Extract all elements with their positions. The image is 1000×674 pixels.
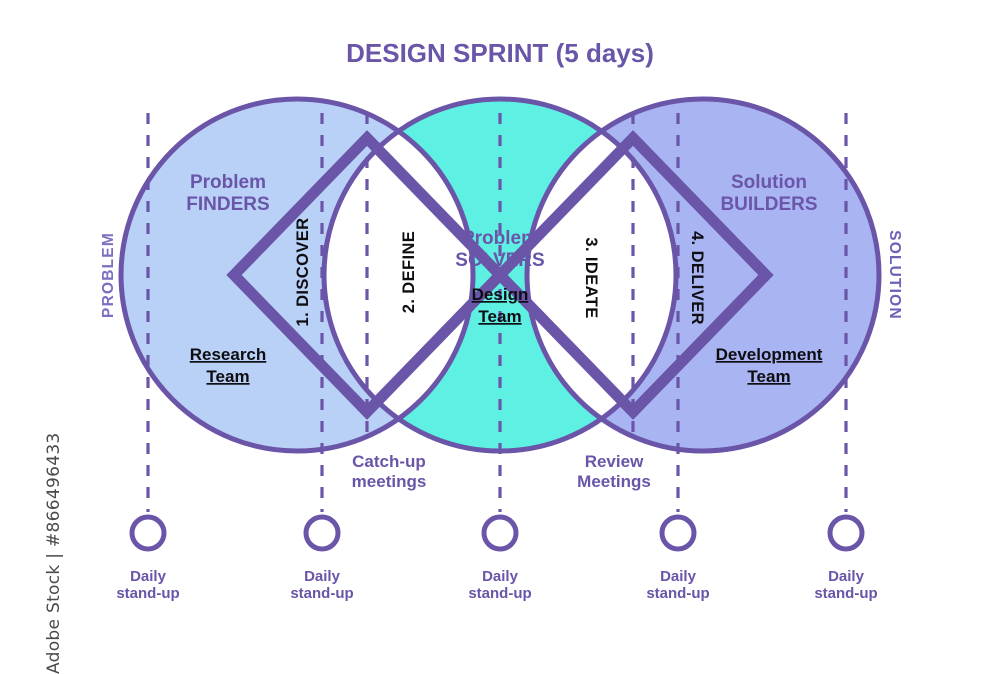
svg-text:Development: Development [716,345,823,364]
phase-label-discover: 1. DISCOVER [294,218,312,327]
svg-text:Team: Team [478,307,521,326]
standup-node-5[interactable]: Daily stand-up [814,517,877,602]
standup-label-line2: stand-up [814,585,877,602]
heading-problem-finders: Problem FINDERS [186,172,269,215]
standup-node-4[interactable]: Daily stand-up [646,517,709,602]
svg-text:Team: Team [747,367,790,386]
standup-node-2[interactable]: Daily stand-up [290,517,353,602]
svg-text:Design: Design [472,285,529,304]
svg-text:Research: Research [190,345,267,364]
standup-circle-icon[interactable] [306,517,338,549]
meeting-review: Review Meetings [577,452,651,491]
phase-label-deliver: 4. DELIVER [688,231,706,325]
svg-text:Catch-up: Catch-up [352,452,426,471]
standup-label-line1: Daily [660,568,697,585]
svg-text:Solution: Solution [731,172,807,193]
svg-text:Team: Team [206,367,249,386]
standup-circle-icon[interactable] [830,517,862,549]
svg-text:Problem: Problem [462,228,538,249]
page-title: DESIGN SPRINT (5 days) [346,38,654,68]
svg-text:FINDERS: FINDERS [186,194,269,215]
standup-node-1[interactable]: Daily stand-up [116,517,179,602]
standup-label-line1: Daily [482,568,519,585]
phase-label-define: 2. DEFINE [400,231,418,313]
standup-label-line1: Daily [304,568,341,585]
standup-circle-icon[interactable] [484,517,516,549]
standup-label-line1: Daily [828,568,865,585]
svg-text:meetings: meetings [352,472,427,491]
meeting-catchup: Catch-up meetings [352,452,427,491]
standup-label-line2: stand-up [468,585,531,602]
standup-circle-icon[interactable] [132,517,164,549]
standup-node-3[interactable]: Daily stand-up [468,517,531,602]
svg-text:Review: Review [585,452,644,471]
svg-text:Problem: Problem [190,172,266,193]
design-sprint-diagram: DESIGN SPRINT (5 days) [0,0,1000,674]
svg-text:SOLVERS: SOLVERS [455,250,544,271]
standup-label-line1: Daily [130,568,167,585]
heading-solution-builders: Solution BUILDERS [720,172,817,215]
svg-text:Meetings: Meetings [577,472,651,491]
svg-text:BUILDERS: BUILDERS [720,194,817,215]
standup-label-line2: stand-up [116,585,179,602]
standup-label-line2: stand-up [290,585,353,602]
diagram-canvas: DESIGN SPRINT (5 days) [0,0,1000,674]
label-solution-vertical: SOLUTION [886,230,903,320]
label-problem-vertical: PROBLEM [100,232,117,318]
heading-problem-solvers: Problem SOLVERS [455,228,544,271]
phase-label-ideate: 3. IDEATE [582,237,600,318]
standup-circle-icon[interactable] [662,517,694,549]
standup-label-line2: stand-up [646,585,709,602]
